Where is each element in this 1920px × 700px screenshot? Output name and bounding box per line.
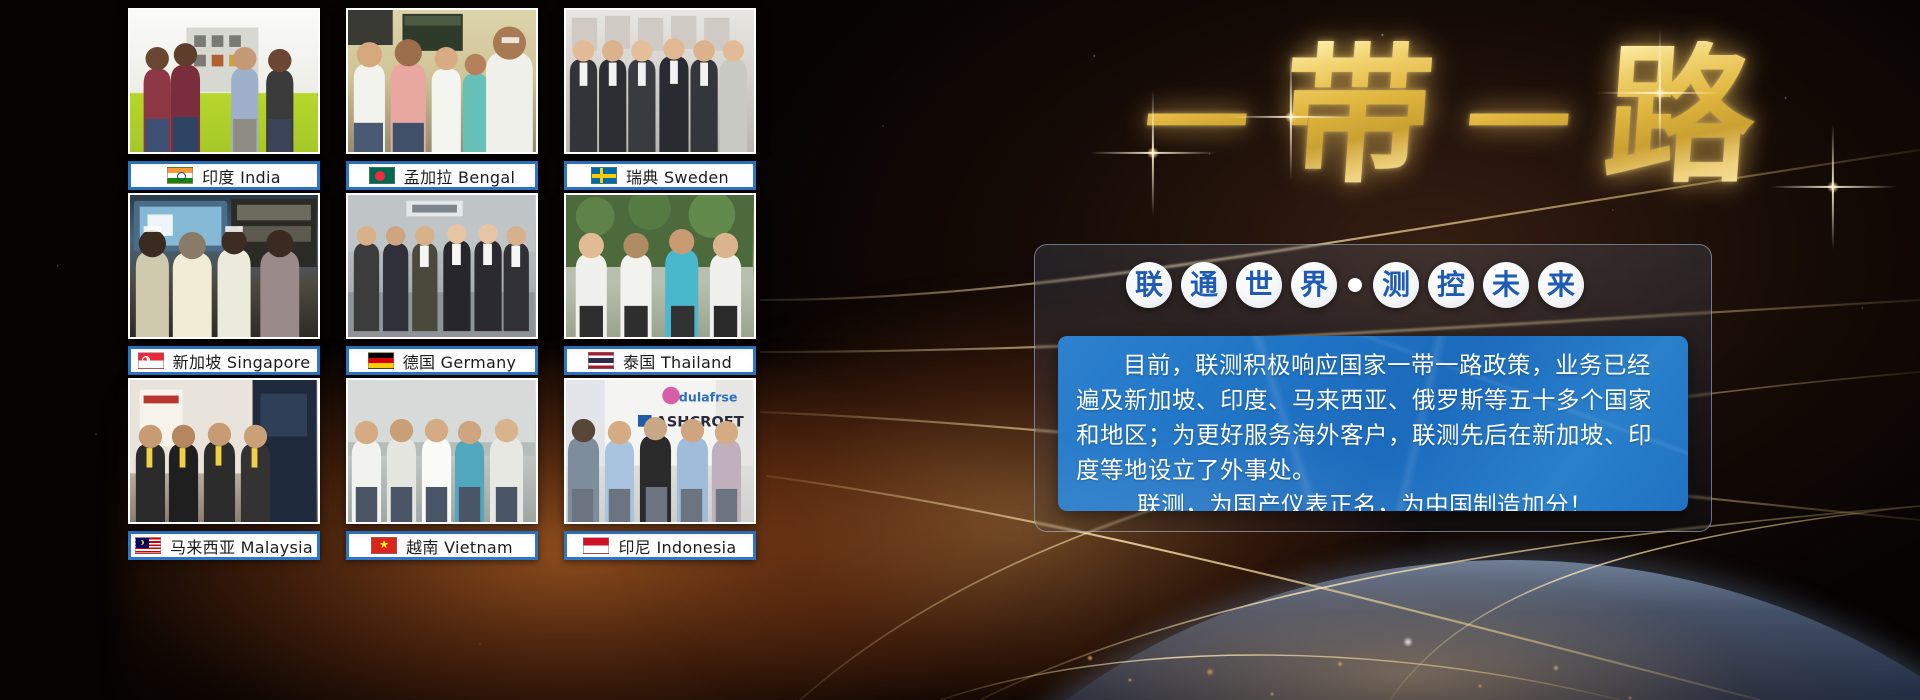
slogan-separator-dot [1348,278,1362,292]
flag-sweden-icon [591,167,617,184]
slogan-char-3: 世 [1236,262,1282,308]
country-label-text: 越南 Vietnam [406,534,513,558]
svg-text:dulafrse: dulafrse [679,389,738,404]
flag-india-icon [167,167,193,184]
slogan-char-8: 来 [1538,262,1584,308]
photo-thumbnail[interactable] [346,193,538,339]
flag-germany-icon [368,352,394,369]
country-label-text: 新加坡 Singapore [173,349,311,373]
banner-stage: 印度 India 孟加拉 Benga [0,0,1920,700]
country-label[interactable]: 印尼 Indonesia [564,531,756,560]
photo-card-sweden[interactable]: 瑞典 Sweden [564,8,756,193]
photo-card-india[interactable]: 印度 India [128,8,320,193]
description-paragraph-2: 联测，为国产仪表正名，为中国制造加分！ [1076,488,1670,511]
country-label[interactable]: 印度 India [128,161,320,190]
country-label[interactable]: 泰国 Thailand [564,346,756,375]
photo-thumbnail[interactable] [564,193,756,339]
country-label[interactable]: 孟加拉 Bengal [346,161,538,190]
photo-thumbnail[interactable] [346,8,538,154]
country-label-text: 德国 Germany [403,349,517,373]
country-label-text: 瑞典 Sweden [626,164,729,188]
photo-thumbnail[interactable] [128,8,320,154]
group-photo-figures [130,195,317,337]
photo-thumbnail[interactable] [564,8,756,154]
description-paragraph-1: 目前，联测积极响应国家一带一路政策，业务已经遍及新加坡、印度、马来西亚、俄罗斯等… [1076,348,1670,488]
photo-card-indonesia[interactable]: dulafrse ASHCROFT 印尼 In [564,378,756,563]
photo-card-thailand[interactable]: 泰国 Thailand [564,193,756,378]
group-photo-figures [566,10,753,152]
group-photo-figures [130,10,317,152]
photo-card-singapore[interactable]: 新加坡 Singapore [128,193,320,378]
flag-indonesia-icon [583,537,609,554]
group-photo-figures [566,195,753,337]
photo-thumbnail[interactable]: dulafrse ASHCROFT [564,378,756,524]
photo-card-germany[interactable]: 德国 Germany [346,193,538,378]
country-label-text: 印尼 Indonesia [618,534,736,558]
photo-card-vietnam[interactable]: 越南 Vietnam [346,378,538,563]
group-photo-figures [348,380,535,522]
slogan-char-1: 联 [1126,262,1172,308]
group-photo-figures: dulafrse ASHCROFT [566,380,753,522]
photo-thumbnail[interactable] [128,378,320,524]
country-label-text: 孟加拉 Bengal [404,164,515,188]
country-label[interactable]: 德国 Germany [346,346,538,375]
slogan-char-6: 控 [1428,262,1474,308]
flag-bangladesh-icon [369,167,395,184]
slogan-char-5: 测 [1373,262,1419,308]
country-label[interactable]: 瑞典 Sweden [564,161,756,190]
country-label-text: 马来西亚 Malaysia [170,534,313,558]
flag-vietnam-icon [371,537,397,554]
country-photo-grid: 印度 India 孟加拉 Benga [128,8,764,580]
photo-card-malaysia[interactable]: 马来西亚 Malaysia [128,378,320,563]
slogan-char-2: 通 [1181,262,1227,308]
country-label-text: 印度 India [202,164,281,188]
photo-thumbnail[interactable] [128,193,320,339]
country-label-text: 泰国 Thailand [623,349,732,373]
photo-card-bengal[interactable]: 孟加拉 Bengal [346,8,538,193]
flag-singapore-icon [138,352,164,369]
slogan-char-4: 界 [1291,262,1337,308]
flag-thailand-icon [588,352,614,369]
country-label[interactable]: 新加坡 Singapore [128,346,320,375]
slogan-row: 联 通 世 界 测 控 未 来 [1126,262,1584,308]
group-photo-figures [130,380,317,522]
group-photo-figures [348,10,535,152]
group-photo-figures [348,195,535,337]
slogan-char-7: 未 [1483,262,1529,308]
flag-malaysia-icon [135,537,161,554]
description-box: 目前，联测积极响应国家一带一路政策，业务已经遍及新加坡、印度、马来西亚、俄罗斯等… [1058,336,1688,511]
country-label[interactable]: 越南 Vietnam [346,531,538,560]
photo-thumbnail[interactable] [346,378,538,524]
country-label[interactable]: 马来西亚 Malaysia [128,531,320,560]
